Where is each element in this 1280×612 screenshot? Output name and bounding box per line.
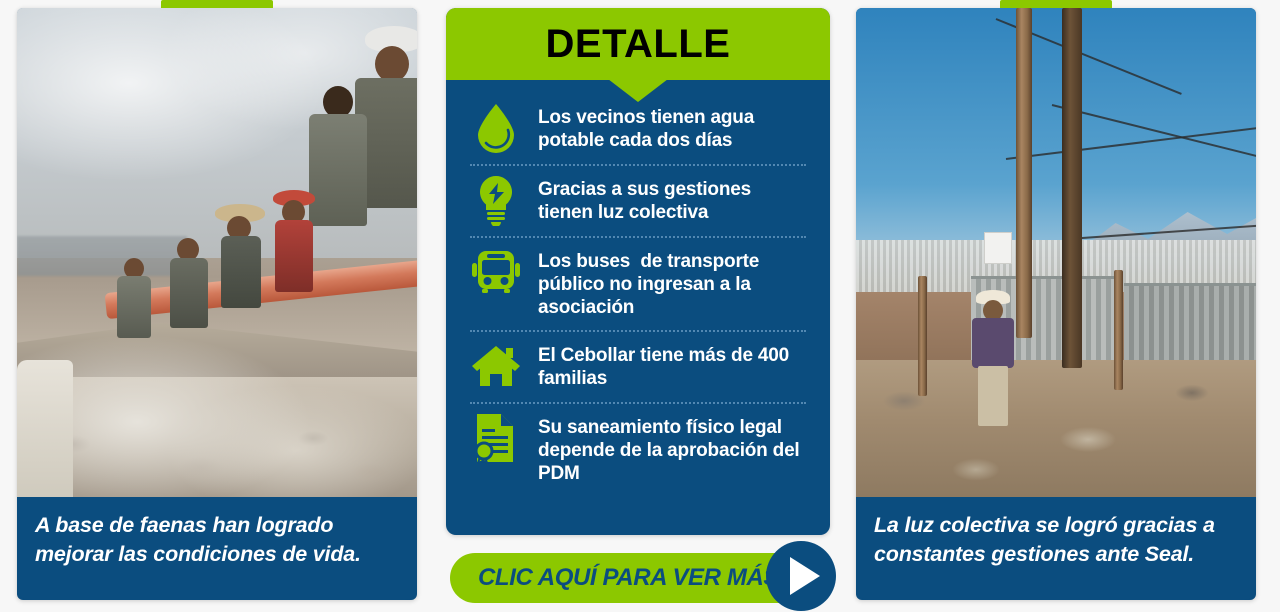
fence-post [918,276,927,396]
left-photo-frame [17,8,417,497]
power-wire [1006,126,1256,160]
certificate-document-icon [470,412,522,464]
worker-figure [17,360,77,497]
distant-city-layer [17,236,187,276]
bus-icon [470,246,522,298]
detail-column: DETALLE Los vecinos tienen agua potable … [446,8,830,607]
house-icon [470,340,522,392]
detail-item-text: Su saneamiento físico legal depende de l… [538,412,808,486]
left-photo-illustration [17,8,417,497]
dirt-ground-layer [856,360,1256,497]
item-separator [470,402,806,404]
right-photo-illustration [856,8,1256,497]
person-figure [964,290,1024,430]
play-icon[interactable] [766,541,836,611]
cta-row: CLIC AQUÍ PARA VER MÁS [446,551,830,607]
detail-item-text: Los buses de transporte público no ingre… [538,246,808,320]
light-bulb-icon [470,174,522,226]
ver-mas-button[interactable]: CLIC AQUÍ PARA VER MÁS [450,553,804,603]
item-separator [470,164,806,166]
water-drop-icon [470,102,522,154]
worker-figure [213,204,267,314]
infographic-stage: A base de faenas han logrado mejorar las… [0,0,1280,612]
worker-figure [113,258,157,350]
detail-header: DETALLE [446,8,830,80]
header-notch-triangle [608,79,668,102]
detail-item-luz-colectiva[interactable]: Gracias a sus gestiones tienen luz colec… [462,166,814,236]
dust-cloud-layer [17,308,417,497]
detail-card: DETALLE Los vecinos tienen agua potable … [446,8,830,535]
small-sign [984,232,1012,264]
detail-item-familias[interactable]: El Cebollar tiene más de 400 familias [462,332,814,402]
item-separator [470,236,806,238]
fence-post [1114,270,1123,390]
detail-item-buses-transporte[interactable]: Los buses de transporte público no ingre… [462,238,814,330]
right-photo-card[interactable]: La luz colectiva se logró gracias a cons… [856,8,1256,600]
left-photo-card[interactable]: A base de faenas han logrado mejorar las… [17,8,417,600]
detail-item-saneamiento-legal[interactable]: Su saneamiento físico legal depende de l… [462,404,814,496]
detail-item-text: Gracias a sus gestiones tienen luz colec… [538,174,808,224]
worker-figure [269,190,319,300]
wooden-utility-pole [1062,8,1082,368]
item-separator [470,330,806,332]
detail-item-text: Los vecinos tienen agua potable cada dos… [538,102,808,152]
detail-header-title: DETALLE [546,24,731,64]
right-photo-caption: La luz colectiva se logró gracias a cons… [856,497,1256,600]
detail-item-list: Los vecinos tienen agua potable cada dos… [446,80,830,535]
wooden-utility-pole [1016,8,1032,338]
detail-item-text: El Cebollar tiene más de 400 familias [538,340,808,390]
detail-item-agua-potable[interactable]: Los vecinos tienen agua potable cada dos… [462,94,814,164]
left-photo-caption: A base de faenas han logrado mejorar las… [17,497,417,600]
right-photo-frame [856,8,1256,497]
worker-figure [165,238,213,338]
play-triangle [790,557,820,595]
